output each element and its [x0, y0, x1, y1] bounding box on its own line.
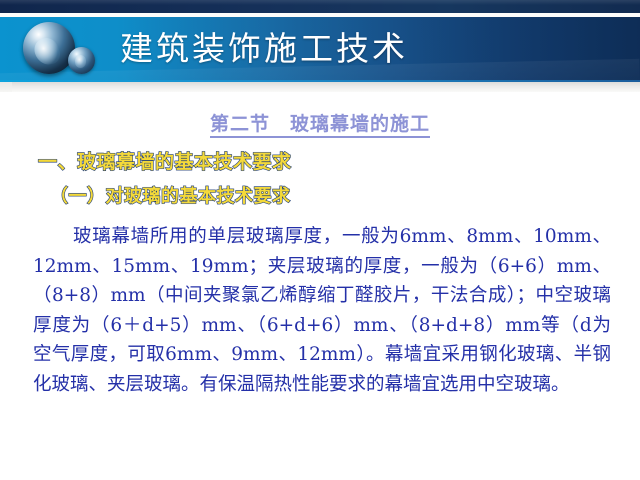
slide-content: 第二节 玻璃幕墙的施工 一、玻璃幕墙的基本技术要求 （一）对玻璃的基本技术要求 … — [0, 92, 640, 480]
heading-level-2: （一）对玻璃的基本技术要求 — [50, 182, 291, 208]
section-title-text: 第二节 玻璃幕墙的施工 — [210, 113, 430, 138]
header-underline-strip — [0, 82, 640, 92]
body-paragraph: 玻璃幕墙所用的单层玻璃厚度，一般为6mm、8mm、10mm、12mm、15mm、… — [33, 222, 611, 399]
slide-header: 建筑装饰施工技术 — [0, 0, 640, 92]
heading-level-1: 一、玻璃幕墙的基本技术要求 — [38, 147, 292, 174]
chrome-spheres-logo-icon — [18, 20, 114, 80]
header-underline-left-cap — [0, 82, 12, 92]
page-title: 建筑装饰施工技术 — [120, 22, 408, 76]
section-title: 第二节 玻璃幕墙的施工 — [0, 109, 640, 136]
logo-small-sphere-icon — [68, 47, 95, 74]
header-top-strip — [0, 0, 640, 13]
logo-large-sphere-icon — [23, 22, 75, 74]
header-top-strip-highlight — [0, 0, 640, 5]
